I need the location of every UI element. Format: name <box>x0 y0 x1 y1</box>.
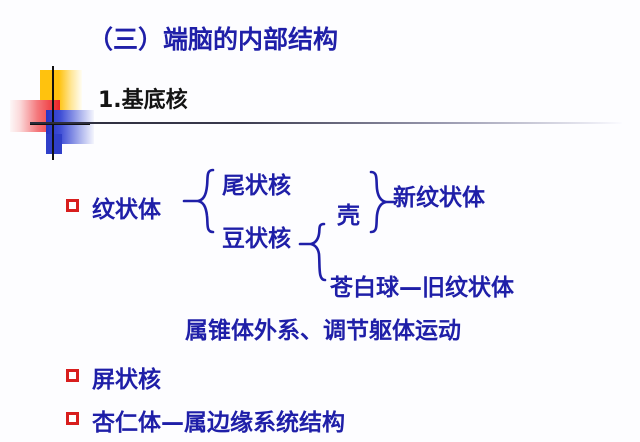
label-striatum: 纹状体 <box>92 190 161 224</box>
slide-canvas: （三）端脑的内部结构 1.基底核 纹状体 尾状核 豆状核 壳 新纹状体 苍白球—… <box>0 0 640 442</box>
label-caudate-nucleus: 尾状核 <box>222 166 291 200</box>
deco-blue-tab <box>46 134 62 154</box>
section-divider-rule <box>30 122 622 124</box>
deco-vertical-line <box>52 66 54 160</box>
label-amygdala: 杏仁体—属边缘系统结构 <box>92 403 345 437</box>
label-neostriatum: 新纹状体 <box>393 178 485 212</box>
label-claustrum: 屏状核 <box>92 360 161 394</box>
label-putamen: 壳 <box>337 196 360 230</box>
bullet-square-amygdala <box>66 412 79 425</box>
corner-decoration-graphic <box>8 66 98 156</box>
label-lentiform-nucleus: 豆状核 <box>222 219 291 253</box>
label-globus-pallidus-paleostriatum: 苍白球—旧纹状体 <box>330 268 514 302</box>
bullet-square-claustrum <box>66 369 79 382</box>
bullet-square-striatum <box>66 199 79 212</box>
section-heading: 1.基底核 <box>98 82 188 114</box>
label-extrapyramidal-note: 属锥体外系、调节躯体运动 <box>185 311 461 345</box>
slide-title: （三）端脑的内部结构 <box>88 20 338 56</box>
